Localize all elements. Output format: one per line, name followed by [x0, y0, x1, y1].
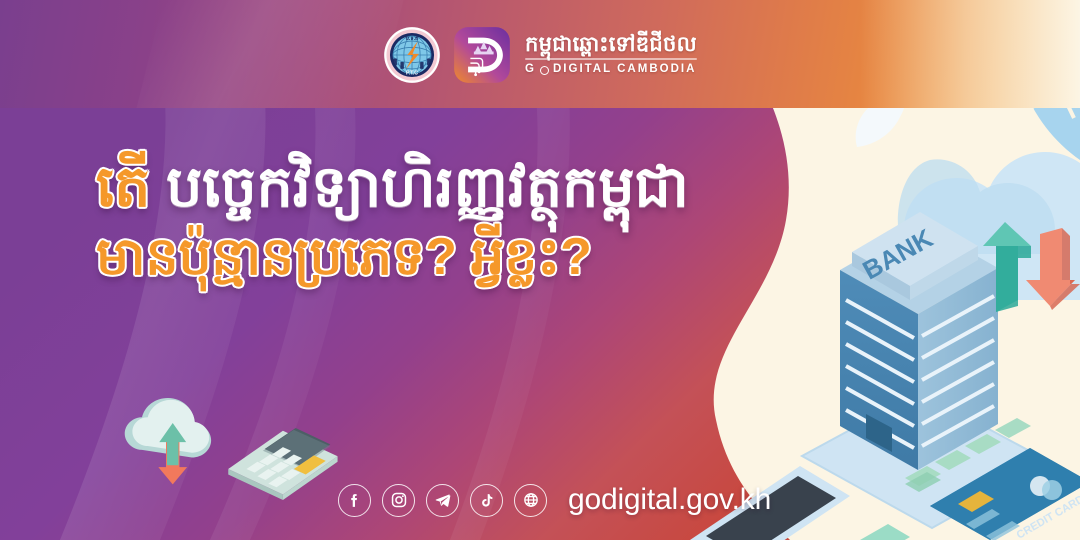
brand-english-suffix: DIGITAL CAMBODIA: [553, 64, 696, 76]
go-digital-cambodia-logo-icon: [453, 26, 511, 84]
headline-accent-word: តើ: [96, 155, 150, 219]
brand-text: កម្ពុជាឆ្ពោះទៅឌីជីថល G DIGITAL CAMBODIA: [525, 34, 697, 76]
brand-go-letter: G: [525, 64, 536, 76]
poster-canvas: BANK CREDIT CARD: [0, 0, 1080, 540]
go-dot-icon: [540, 66, 549, 75]
calculator-icon: [222, 418, 342, 500]
brand-khmer-name: កម្ពុជាឆ្ពោះទៅឌីជីថល: [525, 34, 697, 55]
headline-line-2: មានប៉ុន្មានប្រភេទ? អ្វីខ្លះ?: [96, 230, 886, 285]
website-url[interactable]: godigital.gov.kh: [568, 483, 771, 517]
tiktok-icon[interactable]: [470, 484, 503, 517]
headline-block: តើ បច្ចេកវិទ្យាហិរញ្ញវត្ថុកម្ពុជា មានប៉ុ…: [96, 158, 886, 284]
headline-main-text: បច្ចេកវិទ្យាហិរញ្ញវត្ថុកម្ពុជា: [166, 155, 689, 219]
teal-token-icon: [860, 524, 910, 540]
cloud-sync-icon: [112, 398, 220, 494]
headline-line-1: តើ បច្ចេកវិទ្យាហិរញ្ញវត្ថុកម្ពុជា: [96, 158, 886, 218]
footer-bar: godigital.gov.kh: [338, 480, 771, 520]
svg-text:P.T.C: P.T.C: [406, 71, 418, 77]
brand-divider: [525, 58, 697, 60]
instagram-icon[interactable]: [382, 484, 415, 517]
svg-text:ប.ទ.ក: ប.ទ.ក: [406, 36, 420, 42]
facebook-icon[interactable]: [338, 484, 371, 517]
globe-icon[interactable]: [514, 484, 547, 517]
brand-english-name: G DIGITAL CAMBODIA: [525, 64, 696, 76]
telegram-icon[interactable]: [426, 484, 459, 517]
brand-lockup: ប.ទ.ក P.T.C: [0, 16, 1080, 94]
ptc-logo-icon: ប.ទ.ក P.T.C: [383, 26, 441, 84]
